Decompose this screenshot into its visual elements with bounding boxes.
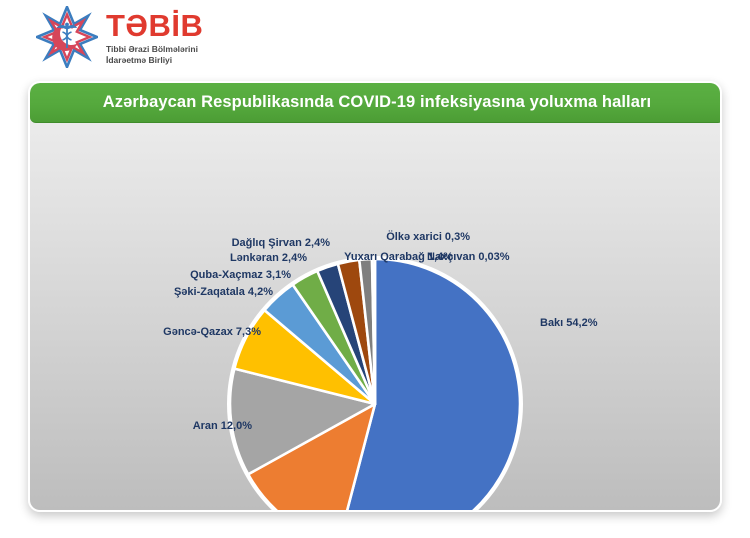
logo-subtitle: Tibbi Ərazi Bölmələrini İdarəetmə Birliy… (106, 44, 203, 66)
pie-label-l-nk-ran: Lənkəran 2,4% (230, 252, 307, 264)
tabib-logo: TƏBİB Tibbi Ərazi Bölmələrini İdarəetmə … (36, 6, 203, 68)
logo-text-block: TƏBİB Tibbi Ərazi Bölmələrini İdarəetmə … (106, 8, 203, 66)
logo-subtitle-line1: Tibbi Ərazi Bölmələrini (106, 44, 203, 55)
pie-label-g-nc-qazax: Gəncə-Qazax 7,3% (163, 326, 261, 338)
logo-wordmark: TƏBİB (106, 10, 203, 41)
pie-label--lk-xarici: Ölkə xarici 0,3% (386, 231, 470, 243)
pie-chart-svg (30, 123, 722, 512)
pie-label-da-l-q-irvan: Dağlıq Şirvan 2,4% (232, 237, 330, 249)
pie-chart: Bakı 54,2%Abşeron 12,9%Aran 12,0%Gəncə-Q… (30, 123, 722, 512)
logo-subtitle-line2: İdarəetmə Birliyi (106, 55, 203, 66)
chart-title-bar: Azərbaycan Respublikasında COVID-19 infe… (30, 83, 722, 123)
pie-label-bak-: Bakı 54,2% (540, 317, 597, 329)
page-header: TƏBİB Tibbi Ərazi Bölmələrini İdarəetmə … (0, 0, 750, 78)
page-title: Azərbaycan Respublikasında COVID-19 infe… (103, 93, 651, 112)
tabib-star-caduceus-logo-icon (36, 6, 98, 68)
chart-card: Azərbaycan Respublikasında COVID-19 infe… (28, 81, 722, 512)
pie-label-quba-xa-maz: Quba-Xaçmaz 3,1% (190, 269, 291, 281)
pie-label-aran: Aran 12,0% (193, 420, 252, 432)
pie-label--ki-zaqatala: Şəki-Zaqatala 4,2% (174, 286, 273, 298)
pie-label-nax-van: Naxçıvan 0,03% (427, 251, 510, 263)
